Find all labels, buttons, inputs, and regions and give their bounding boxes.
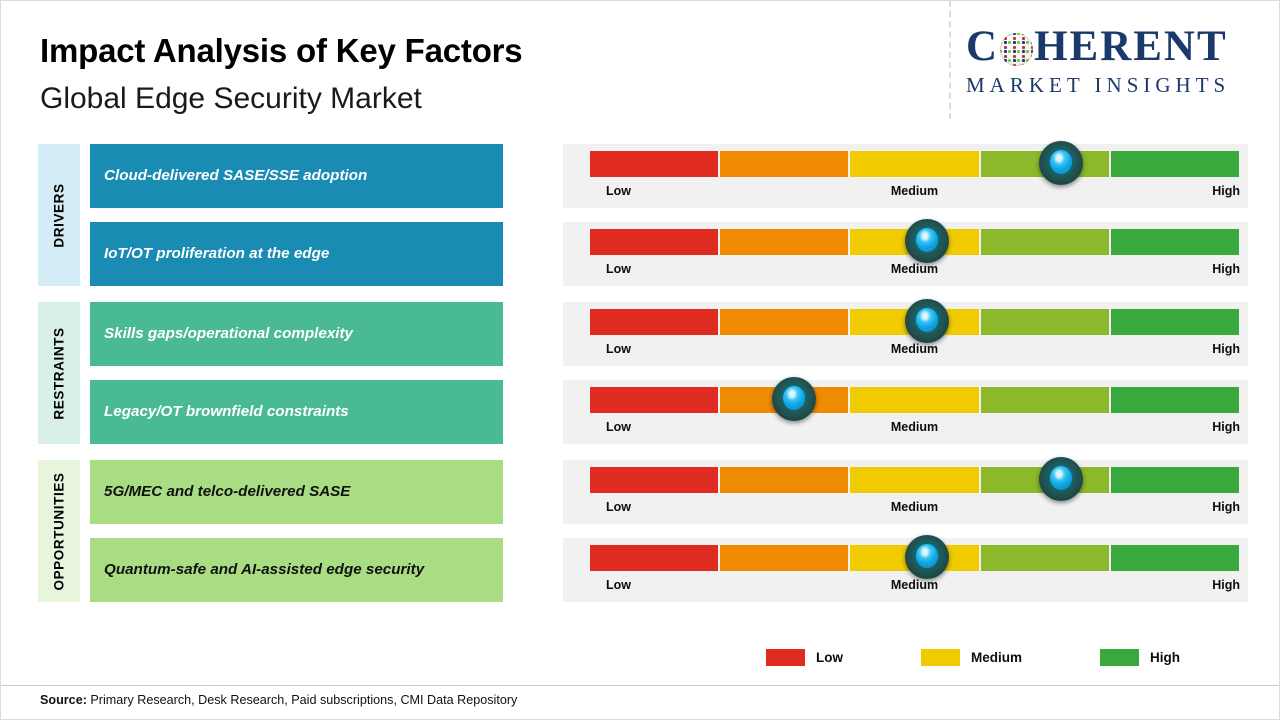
gauge-segment-5: [1111, 229, 1239, 255]
scale-label-medium: Medium: [891, 184, 938, 198]
factor-group-restraints: RESTRAINTSSkills gaps/operational comple…: [38, 302, 1248, 444]
gauge-segment-3: [850, 387, 978, 413]
gauge-segment-4: [981, 309, 1109, 335]
gauge-segment-5: [1111, 467, 1239, 493]
gauge-scale-labels: LowMediumHigh: [590, 184, 1239, 204]
impact-gauge: LowMediumHigh: [563, 460, 1248, 524]
gauge-segment-4: [981, 387, 1109, 413]
slide-header: Impact Analysis of Key Factors Global Ed…: [1, 1, 1280, 131]
impact-marker-knob[interactable]: [1039, 141, 1083, 185]
scale-label-low: Low: [606, 500, 631, 514]
gauge-segment-2: [720, 309, 848, 335]
scale-label-high: High: [1212, 420, 1240, 434]
title-block: Impact Analysis of Key Factors Global Ed…: [40, 29, 522, 120]
factor-row: Quantum-safe and AI-assisted edge securi…: [90, 538, 1248, 602]
impact-analysis-slide: Impact Analysis of Key Factors Global Ed…: [0, 0, 1280, 720]
source-label: Source:: [40, 693, 87, 707]
logo-wordmark: C HERENT: [966, 23, 1266, 71]
group-tab-opportunities: OPPORTUNITIES: [38, 460, 80, 602]
gauge-segment-4: [981, 229, 1109, 255]
gauge-scale-labels: LowMediumHigh: [590, 342, 1239, 362]
legend-item-low: Low: [766, 649, 843, 666]
gauge-segment-1: [590, 151, 718, 177]
legend: LowMediumHigh: [766, 645, 1180, 669]
gauge-bar: [590, 467, 1239, 493]
coherent-market-insights-logo: C HERENT MARKET INSIGHTS: [966, 23, 1266, 105]
impact-gauge: LowMediumHigh: [563, 222, 1248, 286]
legend-item-medium: Medium: [921, 649, 1022, 666]
scale-label-medium: Medium: [891, 342, 938, 356]
factor-row: Legacy/OT brownfield constraintsLowMediu…: [90, 380, 1248, 444]
scale-label-medium: Medium: [891, 420, 938, 434]
scale-label-medium: Medium: [891, 262, 938, 276]
factor-label: Skills gaps/operational complexity: [104, 324, 353, 344]
legend-label: High: [1150, 650, 1180, 665]
gauge-segment-2: [720, 229, 848, 255]
source-text: Primary Research, Desk Research, Paid su…: [87, 693, 517, 707]
gauge-segment-1: [590, 229, 718, 255]
factor-label: 5G/MEC and telco-delivered SASE: [104, 482, 350, 502]
factor-name-cell: Skills gaps/operational complexity: [90, 302, 503, 366]
gauge-scale-labels: LowMediumHigh: [590, 420, 1239, 440]
page-subtitle: Global Edge Security Market: [40, 78, 522, 120]
scale-label-high: High: [1212, 184, 1240, 198]
scale-label-low: Low: [606, 262, 631, 276]
impact-gauge: LowMediumHigh: [563, 538, 1248, 602]
footer-divider: [1, 685, 1280, 686]
factor-name-cell: IoT/OT proliferation at the edge: [90, 222, 503, 286]
legend-item-high: High: [1100, 649, 1180, 666]
logo-tagline: MARKET INSIGHTS: [966, 73, 1266, 98]
gauge-scale-labels: LowMediumHigh: [590, 262, 1239, 282]
gauge-segment-5: [1111, 309, 1239, 335]
gauge-segment-1: [590, 309, 718, 335]
gauge-segment-2: [720, 467, 848, 493]
scale-label-low: Low: [606, 578, 631, 592]
gauge-segment-5: [1111, 545, 1239, 571]
legend-swatch: [921, 649, 960, 666]
scale-label-medium: Medium: [891, 500, 938, 514]
globe-dot-pattern: [1000, 33, 1033, 66]
factor-name-cell: 5G/MEC and telco-delivered SASE: [90, 460, 503, 524]
impact-marker-knob[interactable]: [772, 377, 816, 421]
impact-gauge: LowMediumHigh: [563, 302, 1248, 366]
group-tab-label: DRIVERS: [52, 183, 67, 247]
group-tab-restraints: RESTRAINTS: [38, 302, 80, 444]
gauge-segment-5: [1111, 387, 1239, 413]
gauge-segment-2: [720, 545, 848, 571]
factor-row: IoT/OT proliferation at the edgeLowMediu…: [90, 222, 1248, 286]
legend-label: Low: [816, 650, 843, 665]
scale-label-low: Low: [606, 184, 631, 198]
gauge-scale-labels: LowMediumHigh: [590, 500, 1239, 520]
factor-group-drivers: DRIVERSCloud-delivered SASE/SSE adoption…: [38, 144, 1248, 286]
gauge-scale-labels: LowMediumHigh: [590, 578, 1239, 598]
group-tab-label: OPPORTUNITIES: [52, 472, 67, 590]
group-tab-label: RESTRAINTS: [52, 327, 67, 419]
factor-name-cell: Legacy/OT brownfield constraints: [90, 380, 503, 444]
globe-dot-sphere-icon: [1000, 33, 1033, 66]
factor-label: Legacy/OT brownfield constraints: [104, 402, 349, 422]
factor-name-cell: Quantum-safe and AI-assisted edge securi…: [90, 538, 503, 602]
scale-label-high: High: [1212, 578, 1240, 592]
logo-letter-c: C: [966, 24, 999, 70]
impact-marker-knob[interactable]: [905, 535, 949, 579]
scale-label-medium: Medium: [891, 578, 938, 592]
gauge-segment-1: [590, 545, 718, 571]
impact-gauge: LowMediumHigh: [563, 380, 1248, 444]
factor-row: Skills gaps/operational complexityLowMed…: [90, 302, 1248, 366]
impact-marker-knob[interactable]: [905, 299, 949, 343]
factor-group-opportunities: OPPORTUNITIES5G/MEC and telco-delivered …: [38, 460, 1248, 602]
gauge-segment-1: [590, 467, 718, 493]
page-title: Impact Analysis of Key Factors: [40, 29, 522, 73]
scale-label-high: High: [1212, 342, 1240, 356]
factor-label: Cloud-delivered SASE/SSE adoption: [104, 166, 367, 186]
gauge-segment-3: [850, 151, 978, 177]
gauge-bar: [590, 387, 1239, 413]
factor-label: IoT/OT proliferation at the edge: [104, 244, 329, 264]
gauge-segment-4: [981, 545, 1109, 571]
gauge-segment-5: [1111, 151, 1239, 177]
logo-letters-herent: HERENT: [1034, 24, 1228, 70]
factor-row: Cloud-delivered SASE/SSE adoptionLowMedi…: [90, 144, 1248, 208]
impact-marker-knob[interactable]: [905, 219, 949, 263]
factor-label: Quantum-safe and AI-assisted edge securi…: [104, 560, 424, 580]
header-dashed-divider: [949, 1, 951, 119]
factor-name-cell: Cloud-delivered SASE/SSE adoption: [90, 144, 503, 208]
source-note: Source: Primary Research, Desk Research,…: [40, 693, 517, 707]
scale-label-high: High: [1212, 500, 1240, 514]
legend-swatch: [766, 649, 805, 666]
scale-label-high: High: [1212, 262, 1240, 276]
scale-label-low: Low: [606, 342, 631, 356]
factor-row: 5G/MEC and telco-delivered SASELowMedium…: [90, 460, 1248, 524]
group-tab-drivers: DRIVERS: [38, 144, 80, 286]
legend-label: Medium: [971, 650, 1022, 665]
gauge-segment-2: [720, 151, 848, 177]
scale-label-low: Low: [606, 420, 631, 434]
impact-marker-knob[interactable]: [1039, 457, 1083, 501]
impact-matrix: DRIVERSCloud-delivered SASE/SSE adoption…: [38, 144, 1248, 609]
gauge-bar: [590, 151, 1239, 177]
legend-swatch: [1100, 649, 1139, 666]
impact-gauge: LowMediumHigh: [563, 144, 1248, 208]
gauge-segment-3: [850, 467, 978, 493]
gauge-segment-1: [590, 387, 718, 413]
